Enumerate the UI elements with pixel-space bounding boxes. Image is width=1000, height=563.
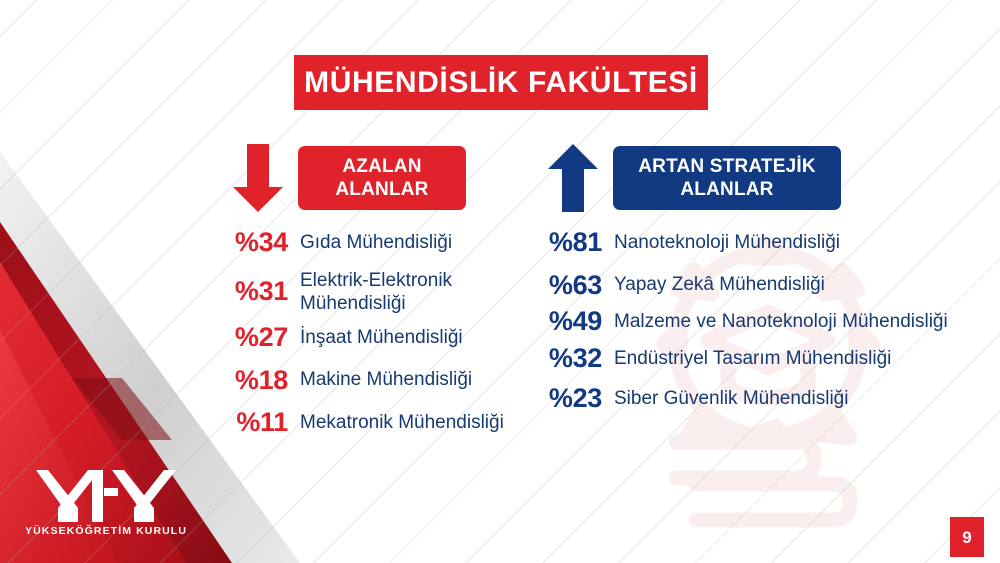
percent-value: %34 — [200, 228, 288, 257]
percent-value: %18 — [200, 366, 288, 395]
field-label: Yapay Zekâ Mühendisliği — [614, 273, 825, 296]
list-item: %63 Yapay Zekâ Mühendisliği — [520, 271, 950, 300]
list-item: %27 İnşaat Mühendisliği — [200, 323, 530, 352]
field-label: Siber Güvenlik Mühendisliği — [614, 387, 848, 410]
slide-canvas: MÜHENDİSLİK FAKÜLTESİ AZALAN ALANLAR ART… — [0, 0, 1000, 563]
percent-value: %31 — [200, 277, 288, 306]
arrow-up-icon — [547, 142, 599, 214]
percent-value: %63 — [520, 271, 602, 300]
percent-value: %32 — [520, 344, 602, 373]
field-label: Gıda Mühendisliği — [300, 231, 452, 254]
percent-value: %81 — [520, 228, 602, 257]
percent-value: %27 — [200, 323, 288, 352]
page-number-badge: 9 — [950, 517, 984, 557]
increasing-header-box: ARTAN STRATEJİK ALANLAR — [613, 146, 841, 210]
field-label: Mekatronik Mühendisliği — [300, 411, 504, 434]
decreasing-column-header: AZALAN ALANLAR — [232, 142, 466, 214]
field-label: Elektrik-Elektronik Mühendisliği — [300, 269, 530, 315]
field-label: İnşaat Mühendisliği — [300, 326, 463, 349]
field-label: Malzeme ve Nanoteknoloji Mühendisliği — [614, 310, 948, 333]
increasing-header-line1: ARTAN STRATEJİK — [638, 156, 816, 177]
list-item: %18 Makine Mühendisliği — [200, 366, 530, 395]
yok-logo: YÜKSEKÖĞRETİM KURULU — [26, 466, 186, 536]
list-item: %11 Mekatronik Mühendisliği — [200, 408, 530, 437]
percent-value: %11 — [200, 408, 288, 437]
list-item: %34 Gıda Mühendisliği — [200, 228, 530, 257]
increasing-header-line2: ALANLAR — [629, 178, 825, 201]
percent-value: %23 — [520, 384, 602, 413]
list-item: %81 Nanoteknoloji Mühendisliği — [520, 228, 950, 257]
increasing-list: %81 Nanoteknoloji Mühendisliği %63 Yapay… — [520, 228, 950, 424]
increasing-column-header: ARTAN STRATEJİK ALANLAR — [547, 142, 841, 214]
page-number: 9 — [962, 529, 971, 546]
arrow-down-icon — [232, 142, 284, 214]
percent-value: %49 — [520, 307, 602, 336]
page-title: MÜHENDİSLİK FAKÜLTESİ — [304, 68, 698, 98]
list-item: %32 Endüstriyel Tasarım Mühendisliği — [520, 344, 950, 373]
field-label: Endüstriyel Tasarım Mühendisliği — [614, 347, 891, 370]
slide-title-banner: MÜHENDİSLİK FAKÜLTESİ — [294, 55, 708, 110]
list-item: %23 Siber Güvenlik Mühendisliği — [520, 384, 950, 413]
list-item: %49 Malzeme ve Nanoteknoloji Mühendisliğ… — [520, 307, 950, 336]
field-label: Nanoteknoloji Mühendisliği — [614, 231, 840, 254]
decreasing-header-line1: AZALAN — [342, 156, 421, 177]
list-item: %31 Elektrik-Elektronik Mühendisliği — [200, 269, 530, 315]
decreasing-header-box: AZALAN ALANLAR — [298, 146, 466, 210]
logo-caption: YÜKSEKÖĞRETİM KURULU — [26, 524, 186, 536]
decreasing-header-line2: ALANLAR — [314, 178, 450, 201]
field-label: Makine Mühendisliği — [300, 368, 472, 391]
decreasing-list: %34 Gıda Mühendisliği %31 Elektrik-Elekt… — [200, 228, 530, 448]
